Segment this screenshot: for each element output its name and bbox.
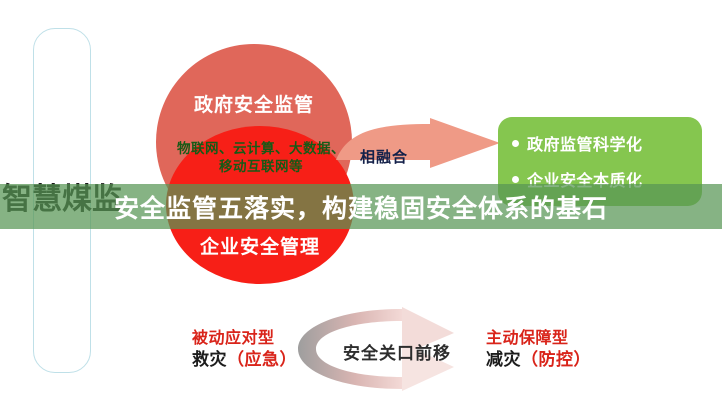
active-assurance-block: 主动保障型 减灾（防控）: [486, 328, 646, 372]
active-assurance-sub-em: （防控）: [521, 350, 591, 369]
active-assurance-sub: 减灾（防控）: [486, 349, 646, 371]
overlay-banner: 安全监管五落实，构建稳固安全体系的基石: [0, 184, 722, 229]
passive-response-sub-plain: 救灾: [192, 350, 227, 369]
merge-label: 相融合: [360, 146, 408, 167]
passive-response-head: 被动应对型: [192, 328, 352, 349]
enterprise-management-label: 企业安全管理: [166, 232, 354, 259]
outcome-item-1: 政府监管科学化: [512, 131, 643, 155]
passive-response-sub: 救灾（应急）: [192, 349, 352, 371]
passive-response-sub-em: （应急）: [227, 350, 297, 369]
active-assurance-sub-plain: 减灾: [486, 350, 521, 369]
bullet-dot-icon: [512, 140, 519, 147]
outcome-item-1-label: 政府监管科学化: [527, 131, 643, 155]
passive-response-block: 被动应对型 救灾（应急）: [192, 328, 352, 372]
venn-overlap-technologies-label: 物联网、云计算、大数据、移动互联网等: [176, 140, 346, 176]
diagram-canvas: 智慧煤监 政府安全监管 企业安全管理 物联网、云计算、大数据、移动互联网等 相融…: [0, 0, 722, 400]
active-assurance-head: 主动保障型: [486, 328, 646, 349]
government-supervision-label: 政府安全监管: [156, 90, 352, 117]
bullet-dot-icon: [512, 176, 519, 183]
overlay-banner-text: 安全监管五落实，构建稳固安全体系的基石: [114, 189, 608, 225]
